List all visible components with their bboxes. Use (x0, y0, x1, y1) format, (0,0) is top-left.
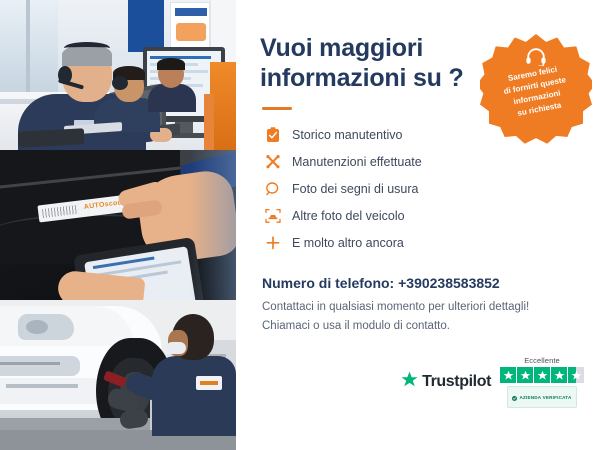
agent3-torso (148, 84, 196, 112)
trustpilot-logo: Trustpilot (401, 371, 491, 393)
plus-icon (262, 233, 284, 253)
list-item[interactable]: Altre foto del veicolo (262, 203, 578, 228)
agent3-hair (157, 58, 185, 70)
verified-check-icon (512, 388, 517, 406)
star-half (568, 367, 584, 383)
promo-card: AUTOscout (0, 0, 600, 450)
call-center-photo (0, 0, 236, 150)
sticker-text-primary: AUTO (84, 201, 106, 210)
car-headlight (18, 314, 74, 340)
rating-label: Eccellente (524, 356, 560, 365)
vehicle-inspection-photo: AUTOscout (0, 150, 236, 300)
mechanic-badge (196, 376, 222, 390)
list-item-label: Manutenzioni effettuate (292, 155, 422, 169)
magnifier-icon (262, 179, 284, 199)
star-filled (500, 367, 516, 383)
contact-note-line1: Contattaci in qualsiasi momento per ulte… (262, 298, 578, 317)
callout-badge: Saremo felici di fornirti queste informa… (480, 34, 592, 146)
crossed-tools-icon (262, 152, 284, 172)
verified-badge: AZIENDA VERIFICATA (507, 386, 576, 408)
list-item-label: Storico manutentivo (292, 128, 402, 142)
photo-column: AUTOscout (0, 0, 236, 450)
bumper-trim (6, 384, 78, 388)
list-item[interactable]: Manutenzioni effettuate (262, 149, 578, 174)
trustpilot-name: Trustpilot (422, 373, 491, 391)
list-item-label: Foto dei segni di usura (292, 182, 418, 196)
page-title-line2: informazioni su ? (260, 64, 480, 94)
verified-label: AZIENDA VERIFICATA (519, 395, 571, 400)
list-item[interactable]: Foto dei segni di usura (262, 176, 578, 201)
clipboard-check-icon (262, 125, 284, 145)
background-blur (190, 150, 236, 300)
trustpilot-rating: Eccellente (500, 356, 584, 408)
phone-number[interactable]: Numero di telefono: +390238583852 (262, 275, 578, 291)
agent2-headset (112, 76, 128, 90)
page-title: Vuoi maggiori informazioni su ? (260, 34, 480, 93)
mechanic (150, 314, 236, 434)
list-item-label: E molto altro ancora (292, 236, 404, 250)
page-title-line1: Vuoi maggiori (260, 34, 480, 64)
car-bumper (0, 378, 106, 404)
mechanic-mask (166, 342, 186, 354)
headset-band (64, 42, 110, 54)
star-filled (517, 367, 533, 383)
star-rating (500, 367, 584, 383)
orange-partition-edge (204, 94, 214, 150)
trustpilot-star-icon (401, 371, 418, 393)
vehicle-photo-icon (262, 206, 284, 226)
star-filled (534, 367, 550, 383)
trustpilot-widget[interactable]: Trustpilot Eccellente (401, 356, 584, 408)
wall-banner (128, 0, 164, 52)
wall-poster (170, 2, 210, 50)
car-grille (0, 356, 80, 376)
agent-third (148, 60, 196, 108)
list-item[interactable]: E molto altro ancora (262, 230, 578, 255)
title-divider (262, 107, 292, 110)
contact-note-line2: Chiamaci o usa il modulo di contatto. (262, 317, 578, 336)
star-filled (551, 367, 567, 383)
mechanic-wheel-photo (0, 300, 236, 450)
list-item-label: Altre foto del veicolo (292, 209, 405, 223)
info-panel: Vuoi maggiori informazioni su ? Storico … (236, 0, 600, 450)
